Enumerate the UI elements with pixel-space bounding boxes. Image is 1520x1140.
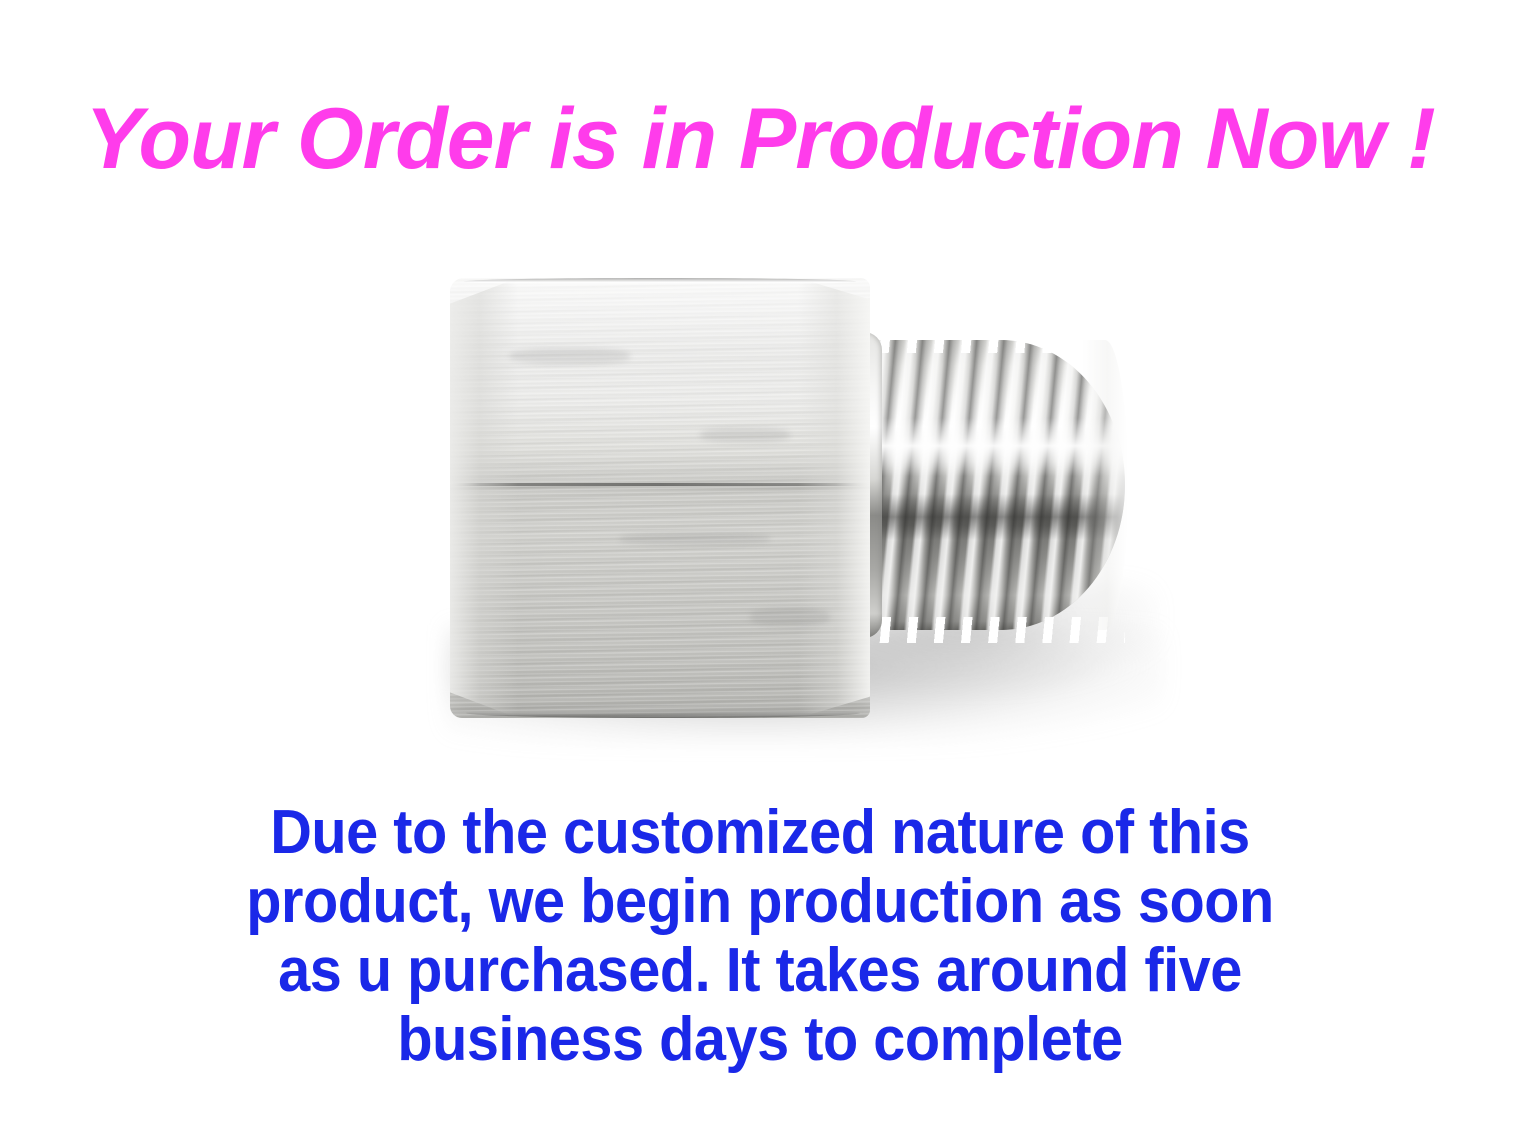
notice-line-3: as u purchased. It takes around five xyxy=(53,936,1467,1005)
product-image xyxy=(400,240,1200,780)
tool-mark xyxy=(510,348,630,364)
hex-chamfer-right xyxy=(798,278,870,718)
tool-mark xyxy=(700,428,790,442)
tool-mark xyxy=(620,533,770,545)
notice-line-2: product, we begin production as soon xyxy=(53,867,1467,936)
thread-nose xyxy=(1082,340,1128,630)
banner-canvas: Your Order is in Production Now ! xyxy=(0,0,1520,1140)
threaded-male-end xyxy=(855,340,1125,630)
hex-edge-bottom xyxy=(466,708,860,718)
notice-line-1: Due to the customized nature of this xyxy=(53,798,1467,867)
page-title: Your Order is in Production Now ! xyxy=(0,96,1520,182)
production-notice: Due to the customized nature of this pro… xyxy=(0,798,1520,1075)
hex-body xyxy=(450,278,870,718)
tool-mark xyxy=(750,608,830,626)
hex-chamfer-left xyxy=(450,278,518,718)
notice-line-4: business days to complete xyxy=(53,1005,1467,1074)
hex-edge-top xyxy=(464,278,856,285)
